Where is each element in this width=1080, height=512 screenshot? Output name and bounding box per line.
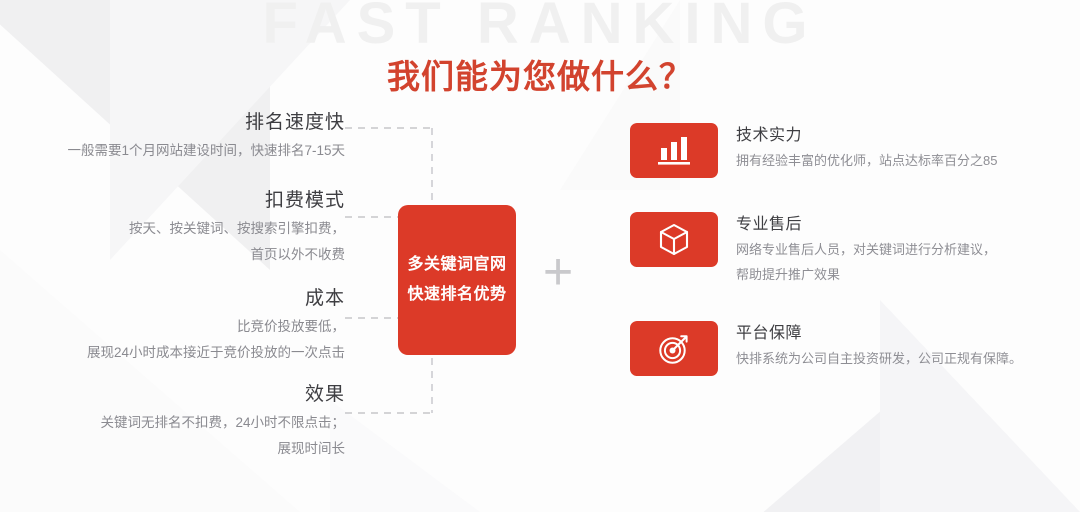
cube-box-icon <box>630 212 718 267</box>
right-item-technical-strength: 技术实力 拥有经验丰富的优化师，站点达标率百分之85 <box>630 123 1070 178</box>
right-item-title: 技术实力 <box>736 124 997 148</box>
left-block-line: 一般需要1个月网站建设时间，快速排名7-15天 <box>0 138 345 164</box>
bar-chart-icon <box>630 123 718 178</box>
plus-icon: + <box>535 248 581 298</box>
right-item-desc: 帮助提升推广效果 <box>736 262 996 287</box>
left-block-line: 按天、按关键词、按搜索引擎扣费， <box>0 216 345 242</box>
left-block-title: 扣费模式 <box>0 186 345 216</box>
left-block-cost: 成本 比竞价投放要低， 展现24小时成本接近于竞价投放的一次点击 <box>0 284 345 366</box>
right-item-desc: 拥有经验丰富的优化师，站点达标率百分之85 <box>736 148 997 173</box>
page-title: 我们能为您做什么？ <box>0 50 1080 98</box>
center-card-line: 快速排名优势 <box>407 280 506 310</box>
left-block-title: 效果 <box>0 380 345 410</box>
right-feature-list: 技术实力 拥有经验丰富的优化师，站点达标率百分之85 专业售后 网络专业售后人员… <box>630 123 1070 410</box>
center-card-line: 多关键词官网 <box>407 250 506 280</box>
left-block-line: 比竞价投放要低， <box>0 314 345 340</box>
left-block-line: 首页以外不收费 <box>0 242 345 268</box>
right-item-text: 专业售后 网络专业售后人员，对关键词进行分析建议， 帮助提升推广效果 <box>736 212 996 287</box>
left-block-line: 关键词无排名不扣费，24小时不限点击； <box>0 410 345 436</box>
right-item-desc: 网络专业售后人员，对关键词进行分析建议， <box>736 237 996 262</box>
right-item-title: 平台保障 <box>736 322 1022 346</box>
right-item-text: 平台保障 快排系统为公司自主投资研发，公司正规有保障。 <box>736 321 1022 371</box>
target-icon <box>630 321 718 376</box>
center-highlight-card: 多关键词官网 快速排名优势 <box>398 205 516 355</box>
left-block-title: 成本 <box>0 284 345 314</box>
right-item-text: 技术实力 拥有经验丰富的优化师，站点达标率百分之85 <box>736 123 997 173</box>
slide-canvas: FAST RANKING 我们能为您做什么？ 排名速度快 一般需要1个月网站建设… <box>0 0 1080 512</box>
left-block-line: 展现时间长 <box>0 436 345 462</box>
left-block-title: 排名速度快 <box>0 108 345 138</box>
right-item-desc: 快排系统为公司自主投资研发，公司正规有保障。 <box>736 346 1022 371</box>
left-block-ranking-speed: 排名速度快 一般需要1个月网站建设时间，快速排名7-15天 <box>0 108 345 164</box>
left-block-billing-mode: 扣费模式 按天、按关键词、按搜索引擎扣费， 首页以外不收费 <box>0 186 345 268</box>
right-item-platform-guarantee: 平台保障 快排系统为公司自主投资研发，公司正规有保障。 <box>630 321 1070 376</box>
left-block-effect: 效果 关键词无排名不扣费，24小时不限点击； 展现时间长 <box>0 380 345 462</box>
right-item-title: 专业售后 <box>736 213 996 237</box>
left-feature-list: 排名速度快 一般需要1个月网站建设时间，快速排名7-15天 扣费模式 按天、按关… <box>0 108 345 466</box>
right-item-professional-support: 专业售后 网络专业售后人员，对关键词进行分析建议， 帮助提升推广效果 <box>630 212 1070 287</box>
left-block-line: 展现24小时成本接近于竞价投放的一次点击 <box>0 340 345 366</box>
